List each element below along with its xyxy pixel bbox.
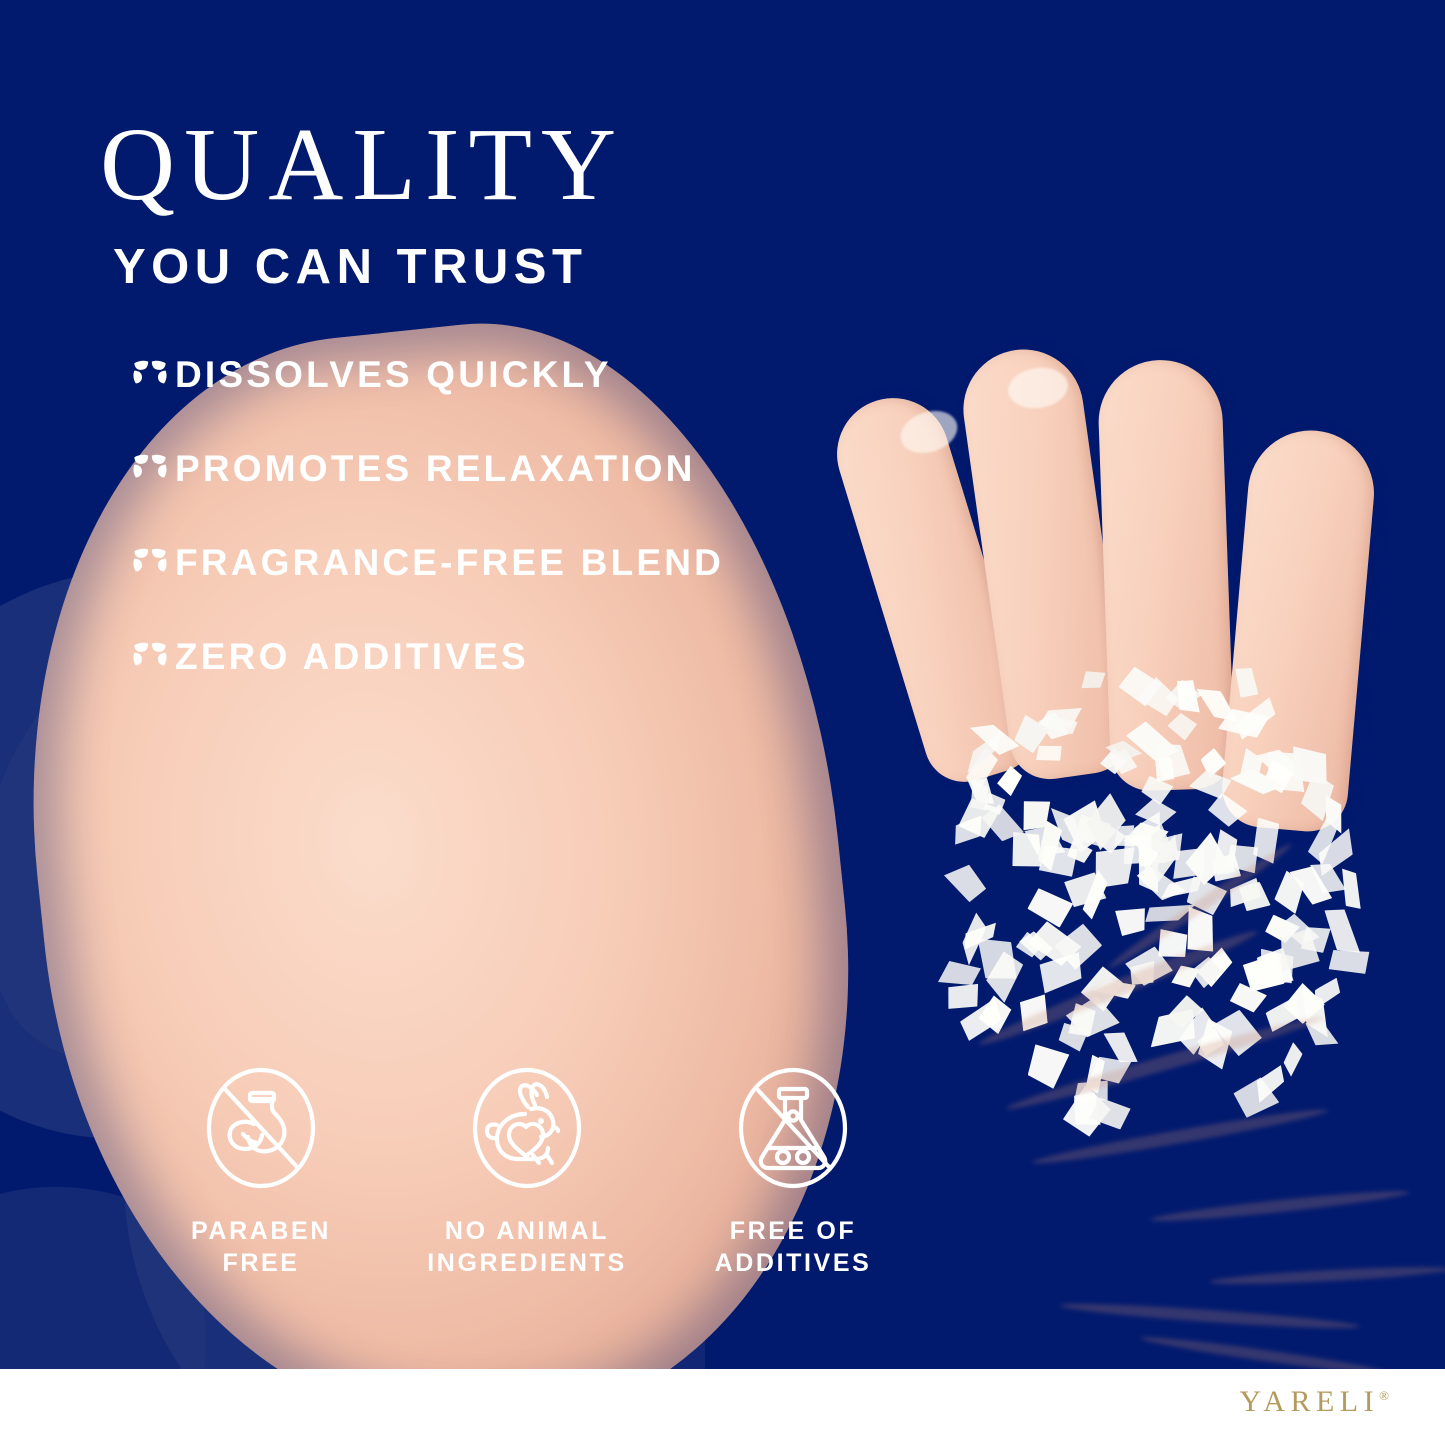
mineral-flake-icon <box>131 451 169 485</box>
list-item-label: DISSOLVES QUICKLY <box>175 356 612 393</box>
footer-bar <box>0 1369 1445 1445</box>
page-title: QUALITY <box>100 113 625 217</box>
mineral-flake-icon <box>131 357 169 391</box>
mineral-flake <box>1164 710 1198 742</box>
badge-free-of-additives: FREE OFADDITIVES <box>660 1062 926 1279</box>
mineral-flake <box>995 763 1024 797</box>
list-item-label: PROMOTES RELAXATION <box>175 450 696 487</box>
mineral-flake <box>1027 1044 1070 1090</box>
brand-logo: YARELI® <box>1239 1385 1389 1419</box>
list-item: ZERO ADDITIVES <box>131 634 871 678</box>
list-item-label: FRAGRANCE-FREE BLEND <box>175 544 724 581</box>
list-item: PROMOTES RELAXATION <box>131 446 871 490</box>
badge-label: NO ANIMALINGREDIENTS <box>427 1215 626 1279</box>
mineral-flake <box>944 981 984 1014</box>
registered-trademark-mark: ® <box>1379 1388 1389 1403</box>
mineral-flake <box>1280 1042 1305 1078</box>
rabbit-heart-cruelty-free-icon <box>463 1062 591 1194</box>
mineral-flake <box>1205 791 1250 831</box>
benefit-list: DISSOLVES QUICKLY PROMOTES RELAXATION <box>131 352 871 678</box>
list-item-label: ZERO ADDITIVES <box>175 638 529 675</box>
badge-label: PARABENFREE <box>191 1215 331 1279</box>
blue-panel: QUALITY YOU CAN TRUST DISSOLVES QUICKLY <box>0 0 1445 1369</box>
badge-no-animal-ingredients: NO ANIMALINGREDIENTS <box>394 1062 660 1279</box>
list-item: DISSOLVES QUICKLY <box>131 352 871 396</box>
badge-paraben-free: PARABENFREE <box>128 1062 394 1279</box>
mineral-flake-icon <box>131 639 169 673</box>
certification-badge-row: PARABENFREE <box>128 1062 928 1279</box>
mineral-flake <box>1327 948 1371 977</box>
page-subtitle: YOU CAN TRUST <box>113 243 587 292</box>
mineral-flake-icon <box>131 545 169 579</box>
badge-label: FREE OFADDITIVES <box>715 1215 872 1279</box>
no-paraben-bottle-leaf-icon <box>197 1062 325 1194</box>
no-additives-flask-icon <box>729 1062 857 1194</box>
mineral-flake <box>1188 767 1232 800</box>
mineral-flake <box>1078 668 1108 692</box>
product-benefits-infographic: QUALITY YOU CAN TRUST DISSOLVES QUICKLY <box>0 0 1445 1445</box>
list-item: FRAGRANCE-FREE BLEND <box>131 540 871 584</box>
mineral-flake <box>938 961 981 985</box>
mineral-flake <box>940 856 991 905</box>
mineral-flake <box>1229 663 1261 701</box>
